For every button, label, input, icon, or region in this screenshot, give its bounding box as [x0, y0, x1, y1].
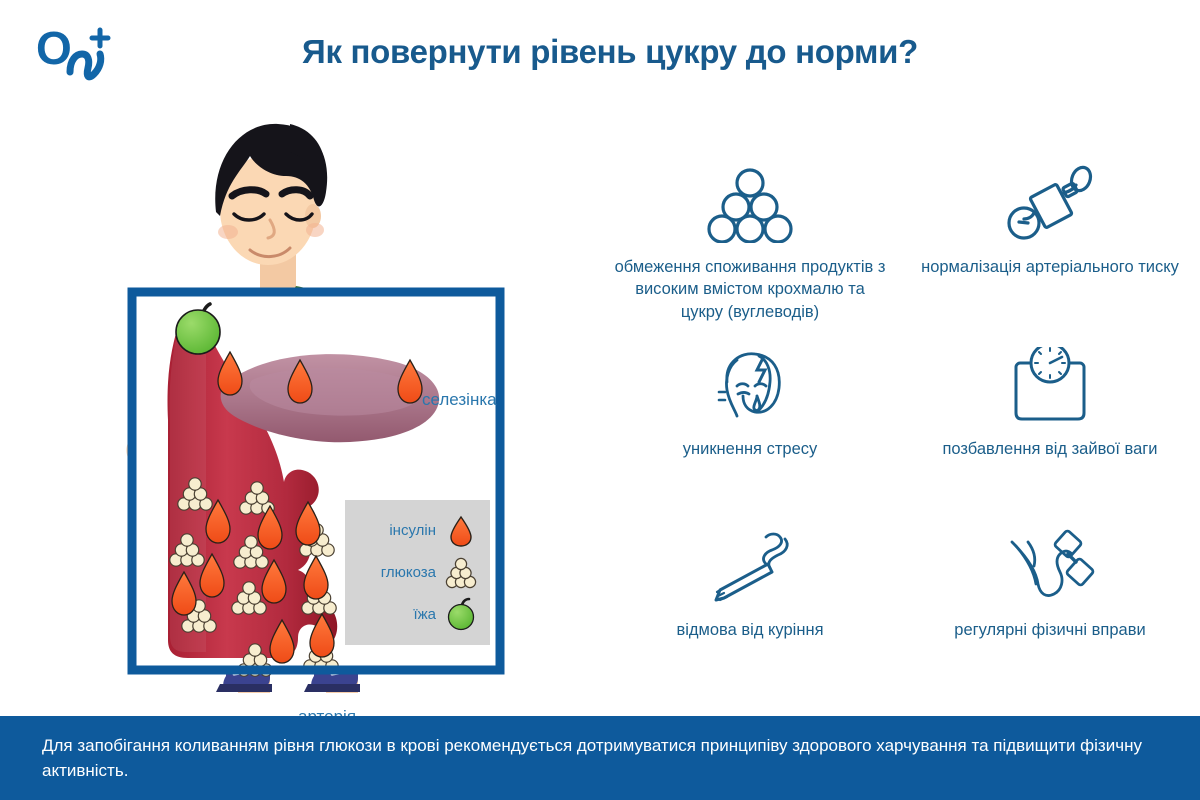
recommendation-caption: відмова від куріння	[676, 619, 823, 641]
insulin-drop-icon	[444, 514, 478, 548]
recommendation-stress[interactable]: уникнення стресу	[600, 342, 900, 524]
weight-scale-icon	[1004, 342, 1096, 432]
recommendation-caption: уникнення стресу	[683, 438, 818, 460]
legend-label-insulin: інсулін	[389, 522, 436, 539]
logo-mark-icon: O	[34, 16, 126, 84]
svg-text:O: O	[36, 22, 72, 74]
stressed-face-icon	[707, 342, 793, 432]
recommendations-grid: обмеження споживання продуктів з високим…	[600, 160, 1200, 705]
page-title: Як повернути рівень цукру до норми?	[150, 33, 1070, 71]
footer-banner: Для запобігання коливанням рівня глюкози…	[0, 716, 1200, 800]
legend-item-glucose: глюкоза	[353, 553, 478, 591]
blood-pressure-cuff-icon	[1002, 160, 1098, 250]
infographic-page: O Як повернути рівень цукру до норми?	[0, 0, 1200, 800]
legend-label-food: їжа	[413, 606, 436, 623]
apple-icon	[444, 597, 478, 631]
label-spleen: селезінка	[422, 390, 497, 410]
recommendation-weight[interactable]: позбавлення від зайвої ваги	[900, 342, 1200, 524]
cigarette-icon	[700, 523, 800, 613]
recommendation-caption: регулярні фізичні вправи	[954, 619, 1145, 641]
legend-box: інсулін глюкоза	[345, 500, 490, 645]
footer-text: Для запобігання коливанням рівня глюкози…	[42, 736, 1142, 780]
recommendation-exercise[interactable]: регулярні фізичні вправи	[900, 523, 1200, 705]
legend-label-glucose: глюкоза	[381, 564, 436, 581]
dumbbell-arm-icon	[1002, 523, 1098, 613]
recommendation-caption: нормалізація артеріального тиску	[921, 256, 1179, 278]
legend-item-insulin: інсулін	[353, 512, 478, 550]
brand-logo[interactable]: O	[34, 16, 126, 84]
legend-item-food: їжа	[353, 595, 478, 633]
recommendation-caption: позбавлення від зайвої ваги	[942, 438, 1157, 460]
recommendation-blood-pressure[interactable]: нормалізація артеріального тиску	[900, 160, 1200, 342]
sugar-cubes-icon	[705, 160, 795, 250]
recommendation-carbs[interactable]: обмеження споживання продуктів з високим…	[600, 160, 900, 342]
recommendation-smoking[interactable]: відмова від куріння	[600, 523, 900, 705]
recommendation-caption: обмеження споживання продуктів з високим…	[614, 256, 886, 323]
glucose-cluster-icon	[444, 555, 478, 589]
